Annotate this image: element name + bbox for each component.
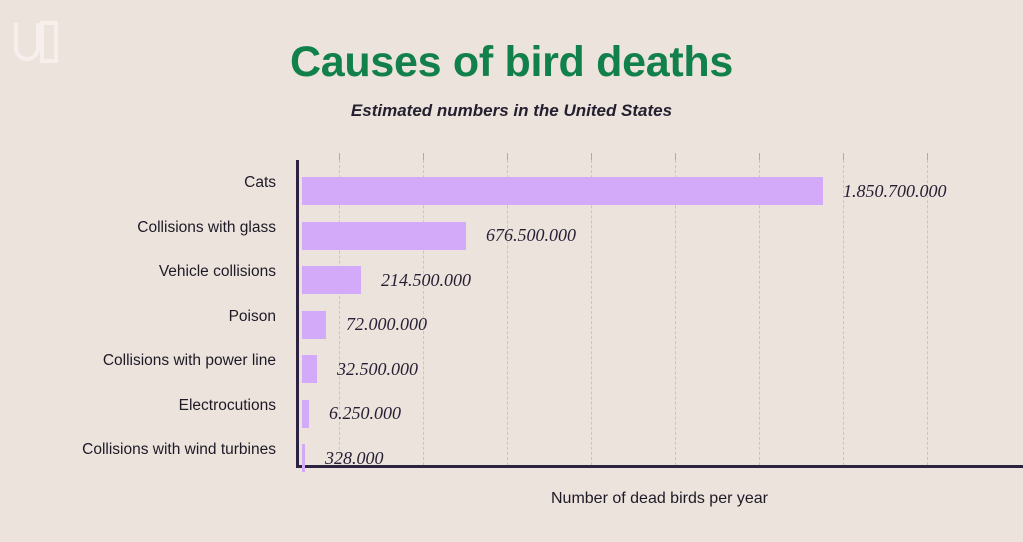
- bar-value-label: 1.850.700.000: [843, 181, 947, 202]
- bar-value-label: 214.500.000: [381, 270, 471, 291]
- x-axis-tick: [339, 153, 340, 160]
- x-axis-title: Number of dead birds per year: [296, 490, 1023, 508]
- bar[interactable]: [302, 400, 309, 428]
- x-axis-tick: [927, 153, 928, 160]
- x-axis-tick: [507, 153, 508, 160]
- x-axis-tick: [423, 153, 424, 160]
- bar-value-label: 32.500.000: [337, 359, 418, 380]
- chart-subtitle: Estimated numbers in the United States: [0, 87, 1023, 121]
- bar-row[interactable]: 1.850.700.000: [302, 169, 947, 213]
- category-label: Collisions with power line: [0, 352, 276, 370]
- bar-row[interactable]: 32.500.000: [302, 347, 418, 391]
- x-axis-tick: [675, 153, 676, 160]
- x-axis-tick: [843, 153, 844, 160]
- bar[interactable]: [302, 177, 823, 205]
- x-axis-tick: [759, 153, 760, 160]
- category-label: Cats: [0, 174, 276, 192]
- bar-row[interactable]: 328.000: [302, 436, 384, 480]
- bar[interactable]: [302, 311, 326, 339]
- y-axis-line: [296, 160, 299, 465]
- category-label: Collisions with glass: [0, 219, 276, 237]
- plot-area: 1.850.700.000676.500.000214.500.00072.00…: [296, 160, 1023, 465]
- chart-header: Causes of bird deaths Estimated numbers …: [0, 0, 1023, 121]
- bar-value-label: 6.250.000: [329, 403, 401, 424]
- bar-value-label: 328.000: [325, 448, 384, 469]
- bar-chart: CatsCollisions with glassVehicle collisi…: [0, 160, 1023, 542]
- bar-row[interactable]: 72.000.000: [302, 303, 427, 347]
- category-label: Collisions with wind turbines: [0, 441, 276, 459]
- bar[interactable]: [302, 444, 305, 472]
- bar-value-label: 72.000.000: [346, 314, 427, 335]
- category-label: Electrocutions: [0, 397, 276, 415]
- bar-row[interactable]: 6.250.000: [302, 392, 401, 436]
- bar[interactable]: [302, 355, 317, 383]
- bar-value-label: 676.500.000: [486, 225, 576, 246]
- bar[interactable]: [302, 222, 466, 250]
- category-label: Vehicle collisions: [0, 263, 276, 281]
- x-axis-tick: [591, 153, 592, 160]
- bar[interactable]: [302, 266, 361, 294]
- chart-title: Causes of bird deaths: [0, 0, 1023, 87]
- category-label: Poison: [0, 308, 276, 326]
- bar-row[interactable]: 214.500.000: [302, 258, 471, 302]
- x-axis-line: [296, 465, 1023, 468]
- category-axis-labels: CatsCollisions with glassVehicle collisi…: [0, 160, 286, 465]
- bar-row[interactable]: 676.500.000: [302, 214, 576, 258]
